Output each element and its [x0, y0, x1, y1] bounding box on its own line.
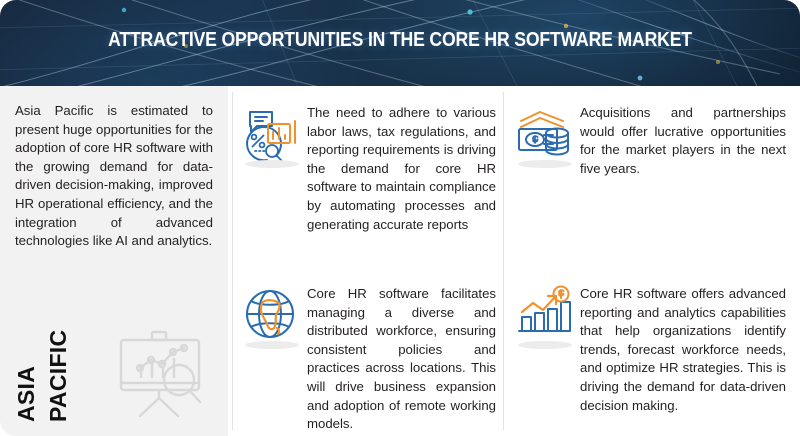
divider-vertical-right	[503, 92, 504, 430]
icon-shadow	[245, 160, 299, 168]
opportunity-text-acquisitions: Acquisitions and partnerships would offe…	[580, 104, 786, 178]
divider-vertical-left	[232, 92, 233, 430]
report-analytics-percent-search-icon	[241, 104, 303, 166]
cash-coins-icon	[514, 104, 576, 166]
icon-shadow	[518, 341, 572, 349]
page-title: ATTRACTIVE OPPORTUNITIES IN THE CORE HR …	[56, 28, 744, 52]
region-label-line2: PACIFIC	[45, 330, 72, 422]
region-label-line1: ASIA	[13, 366, 40, 422]
asia-pacific-panel: Asia Pacific is estimated to present hug…	[0, 86, 228, 436]
presentation-chart-search-icon	[110, 328, 210, 420]
globe-icon	[241, 285, 303, 347]
asia-pacific-description: Asia Pacific is estimated to present hug…	[15, 102, 213, 251]
region-label: ASIA PACIFIC	[6, 312, 92, 422]
opportunity-text-compliance: The need to adhere to various labor laws…	[307, 104, 496, 234]
opportunity-text-analytics: Core HR software offers advanced reporti…	[580, 285, 786, 415]
bar-chart-growth-dollar-icon	[514, 285, 576, 347]
opportunity-text-global-workforce: Core HR software facilitates managing a …	[307, 285, 496, 434]
icon-shadow	[518, 160, 572, 168]
icon-shadow	[245, 341, 299, 349]
header-banner: ATTRACTIVE OPPORTUNITIES IN THE CORE HR …	[0, 0, 800, 86]
